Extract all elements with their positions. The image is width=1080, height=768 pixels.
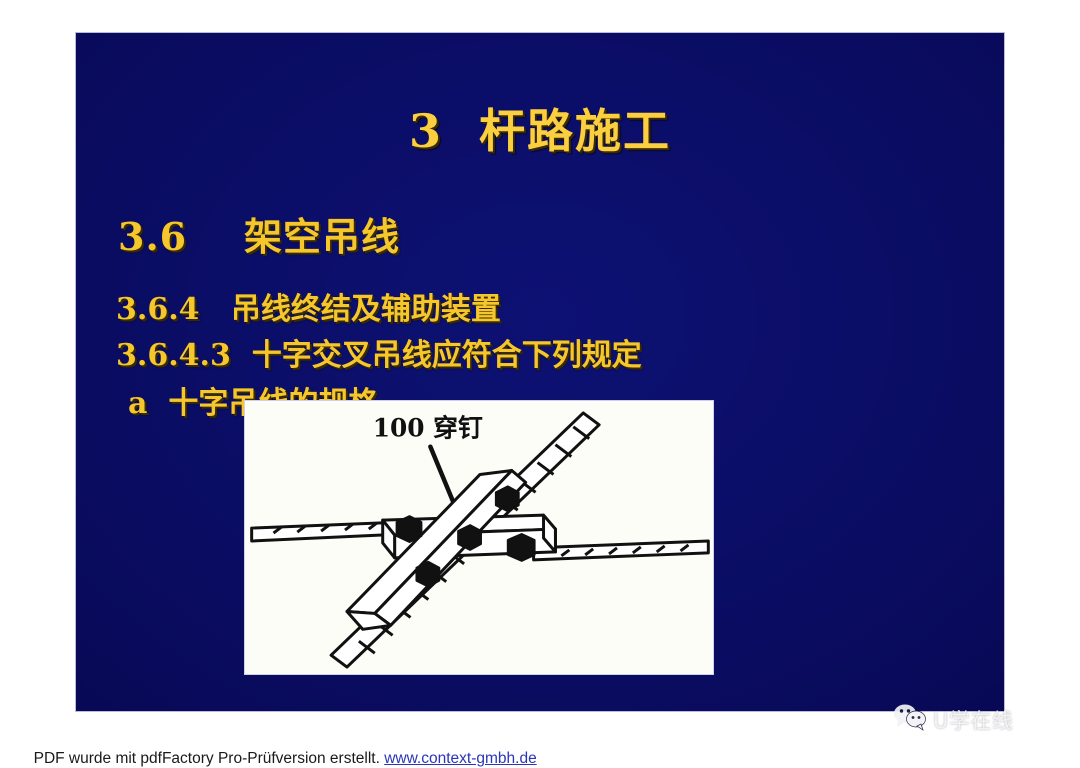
- slide-title: 3 杆路施工: [76, 95, 1004, 161]
- figure-caption: 100 穿钉: [373, 414, 483, 443]
- figure-drawing: 100 穿钉: [245, 401, 713, 674]
- bolt-5: [508, 534, 535, 561]
- bolt-4: [416, 562, 439, 587]
- footer-text: PDF wurde mit pdfFactory Pro-Prüfversion…: [34, 750, 385, 767]
- presentation-slide: 3 杆路施工 3.6 架空吊线 3.6.4 吊线终结及辅助装置 3.6.4.3 …: [75, 32, 1005, 712]
- watermark-label: U学在线: [933, 705, 1013, 735]
- footer-link[interactable]: www.context-gmbh.de: [384, 750, 537, 767]
- wechat-icon: [893, 703, 927, 736]
- section-heading: 3.6 架空吊线: [118, 206, 400, 261]
- watermark: U学在线: [893, 703, 1013, 736]
- bolt-1: [496, 486, 519, 511]
- horizontal-strand-right: [534, 541, 709, 560]
- bolt-3: [397, 516, 422, 542]
- leader-line: [430, 447, 454, 505]
- bolt-2: [458, 525, 481, 550]
- figure-cross-suspension-fitting: 100 穿钉: [244, 400, 714, 675]
- clause-3-6-4: 3.6.4 吊线终结及辅助装置: [116, 284, 501, 328]
- clause-3-6-4-3: 3.6.4.3 十字交叉吊线应符合下列规定: [116, 330, 642, 374]
